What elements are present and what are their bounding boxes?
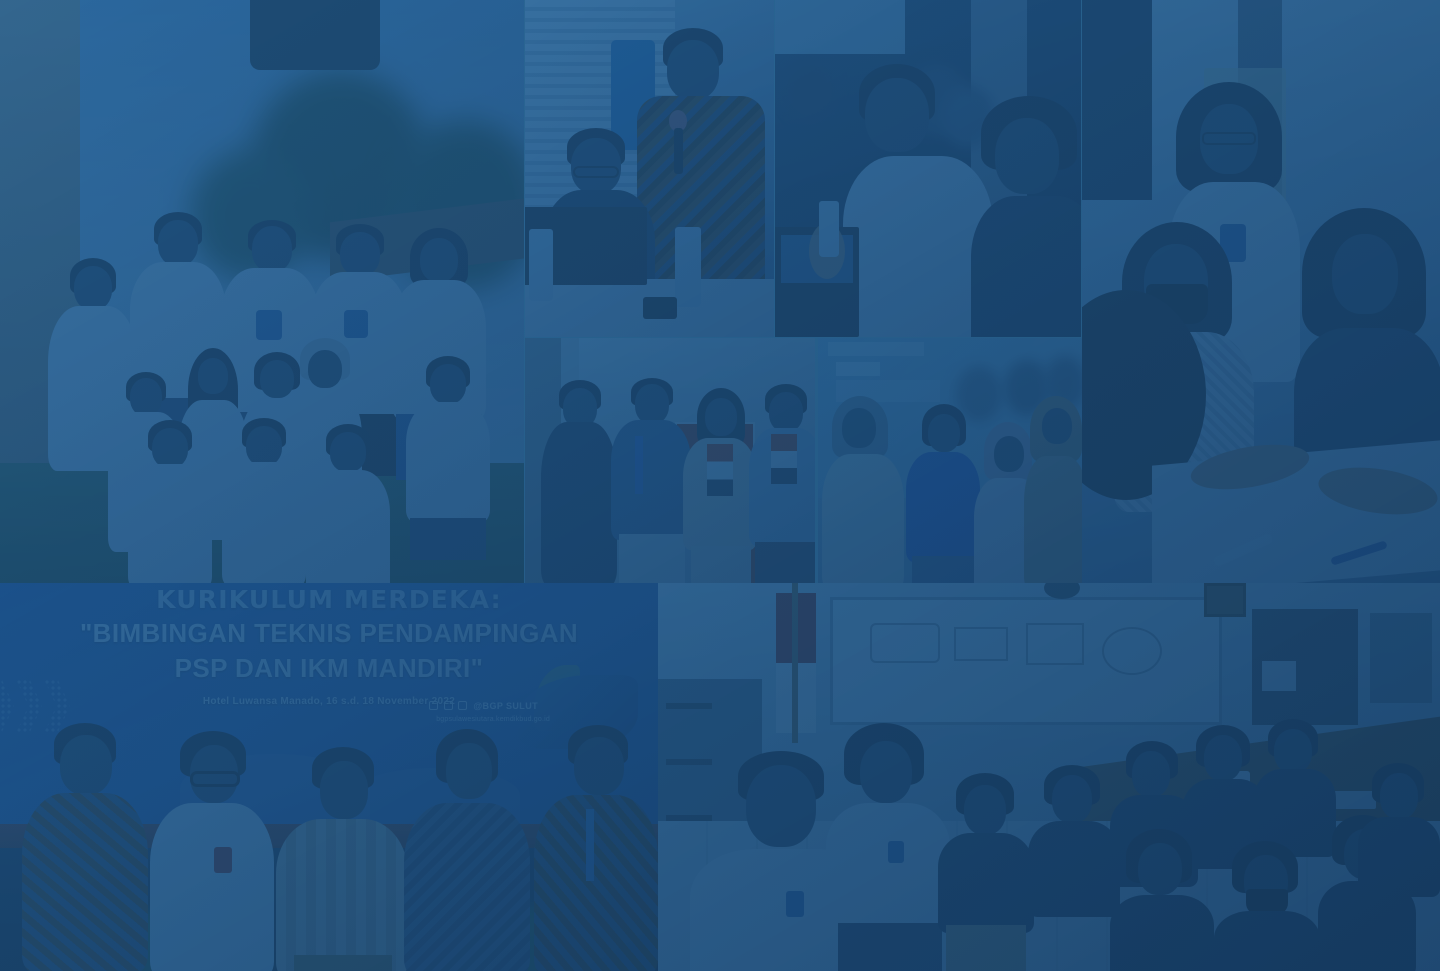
panel-meeting-room-group (658, 583, 1440, 971)
panel-four-participants-posing (525, 338, 815, 583)
panel-facilitator-with-microphone (525, 0, 774, 337)
youtube-icon (458, 701, 467, 710)
panel-event-backdrop-group-photo: KURIKULUM MERDEKA: "BIMBINGAN TEKNIS PEN… (0, 583, 658, 971)
panel-participants-discussion-classroom (775, 0, 1081, 337)
banner-line-1: KURIKULUM MERDEKA: (0, 585, 658, 614)
panel-outdoor-team-group-photo (0, 0, 524, 583)
banner-social-handle: @BGP SULUT (429, 701, 538, 711)
panel-facilitator-observing-worktable (1082, 0, 1440, 583)
banner-text-block: KURIKULUM MERDEKA: "BIMBINGAN TEKNIS PEN… (0, 585, 658, 707)
instagram-icon (429, 701, 438, 710)
panel-four-women-school-banner (818, 338, 1082, 583)
photo-collage: KURIKULUM MERDEKA: "BIMBINGAN TEKNIS PEN… (0, 0, 1440, 971)
banner-line-3: PSP DAN IKM MANDIRI" (0, 653, 658, 684)
banner-line-2: "BIMBINGAN TEKNIS PENDAMPINGAN (0, 618, 658, 649)
banner-handle-text: @BGP SULUT (473, 701, 538, 711)
facebook-icon (444, 701, 453, 710)
banner-website: bgpsulawesiutara.kemdikbud.go.id (436, 716, 550, 723)
banner-subtitle: Hotel Luwansa Manado, 16 s.d. 18 Novembe… (0, 696, 658, 707)
